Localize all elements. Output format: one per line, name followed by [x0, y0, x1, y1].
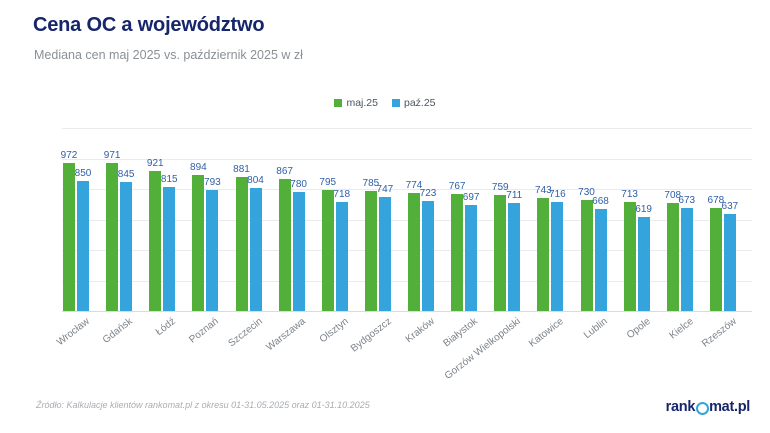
bar-group: 971845 — [106, 128, 149, 311]
bar-paź.25-Warszawa[interactable]: 780 — [293, 192, 305, 311]
x-axis-category-label: Katowice — [527, 316, 566, 350]
bar-group: 785747 — [365, 128, 408, 311]
bar-value-label: 619 — [635, 204, 652, 215]
bar-maj.25-Kielce[interactable]: 708 — [667, 203, 679, 311]
bar-maj.25-Białystok[interactable]: 767 — [451, 194, 463, 311]
bar-value-label: 921 — [147, 158, 164, 169]
bar-value-label: 637 — [722, 201, 739, 212]
bar-paź.25-Bydgoszcz[interactable]: 747 — [379, 197, 391, 311]
bar-paź.25-Białystok[interactable]: 697 — [465, 205, 477, 311]
legend-label: paź.25 — [404, 97, 436, 109]
bar-maj.25-Olsztyn[interactable]: 795 — [322, 190, 334, 311]
bar-maj.25-Poznań[interactable]: 894 — [192, 175, 204, 311]
legend-label: maj.25 — [346, 97, 378, 109]
bar-paź.25-Gdańsk[interactable]: 845 — [120, 182, 132, 311]
bar-value-label: 881 — [233, 164, 250, 175]
x-axis-category-label: Poznań — [188, 316, 222, 346]
x-axis-category-label: Olsztyn — [317, 316, 350, 345]
bar-value-label: 845 — [118, 169, 135, 180]
bar-group: 713619 — [624, 128, 667, 311]
bar-paź.25-Rzeszów[interactable]: 637 — [724, 214, 736, 311]
bar-maj.25-Szczecin[interactable]: 881 — [236, 177, 248, 311]
bar-group: 767697 — [451, 128, 494, 311]
logo-text-part2: mat.pl — [709, 399, 750, 415]
chart-subtitle: Mediana cen maj 2025 vs. październik 202… — [34, 48, 303, 62]
rankomat-logo: rank mat.pl — [666, 399, 750, 415]
bar-maj.25-Łódź[interactable]: 921 — [149, 171, 161, 311]
bar-maj.25-Wrocław[interactable]: 972 — [63, 163, 75, 311]
x-axis-category-label: Łódź — [154, 316, 178, 338]
bar-group: 678637 — [710, 128, 753, 311]
x-axis-category-label: Kielce — [667, 316, 695, 341]
bar-paź.25-Łódź[interactable]: 815 — [163, 187, 175, 311]
bar-value-label: 711 — [506, 190, 522, 201]
bar-value-label: 713 — [621, 189, 638, 200]
x-axis-category-label: Szczecin — [226, 316, 264, 349]
bar-group: 921815 — [149, 128, 192, 311]
bar-group: 708673 — [667, 128, 710, 311]
legend-item-paź.25[interactable]: paź.25 — [392, 97, 436, 109]
bar-paź.25-Gorzów Wielkopolski[interactable]: 711 — [508, 203, 520, 311]
bar-value-label: 780 — [290, 179, 307, 190]
x-axis-category-label: Bydgoszcz — [349, 316, 394, 354]
bar-maj.25-Katowice[interactable]: 743 — [537, 198, 549, 311]
bar-group: 881804 — [236, 128, 279, 311]
chart-legend: maj.25paź.25 — [0, 97, 770, 109]
bar-value-label: 767 — [449, 181, 466, 192]
bar-paź.25-Kielce[interactable]: 673 — [681, 208, 693, 311]
bar-value-label: 815 — [161, 174, 178, 185]
bar-value-label: 718 — [333, 189, 350, 200]
bar-value-label: 894 — [190, 162, 207, 173]
bar-paź.25-Kraków[interactable]: 723 — [422, 201, 434, 311]
bar-group: 867780 — [279, 128, 322, 311]
chart-page: Cena OC a województwo Mediana cen maj 20… — [0, 0, 770, 433]
bar-paź.25-Wrocław[interactable]: 850 — [77, 181, 89, 311]
logo-text-part1: rank — [666, 399, 695, 415]
x-axis-category-label: Wrocław — [55, 316, 92, 348]
bar-paź.25-Katowice[interactable]: 716 — [551, 202, 563, 311]
plot-area: 0200400600800100012009728509718459218158… — [62, 128, 752, 311]
bar-paź.25-Olsztyn[interactable]: 718 — [336, 202, 348, 311]
bar-value-label: 793 — [204, 177, 221, 188]
bar-paź.25-Opole[interactable]: 619 — [638, 217, 650, 311]
bar-group: 972850 — [63, 128, 106, 311]
x-axis-baseline — [62, 311, 752, 312]
bar-paź.25-Lublin[interactable]: 668 — [595, 209, 607, 311]
legend-swatch-icon — [392, 99, 400, 107]
source-note: Źródło: Kalkulacje klientów rankomat.pl … — [36, 400, 370, 410]
bar-paź.25-Poznań[interactable]: 793 — [206, 190, 218, 311]
bar-maj.25-Lublin[interactable]: 730 — [581, 200, 593, 311]
bar-value-label: 668 — [592, 196, 609, 207]
bar-value-label: 723 — [420, 188, 437, 199]
x-axis-category-label: Lublin — [581, 316, 609, 341]
x-axis-category-label: Gorzów Wielkopolski — [443, 316, 523, 382]
page-title: Cena OC a województwo — [33, 14, 264, 37]
bar-maj.25-Gdańsk[interactable]: 971 — [106, 163, 118, 311]
bar-maj.25-Opole[interactable]: 713 — [624, 202, 636, 311]
bar-value-label: 697 — [463, 192, 480, 203]
x-axis-category-label: Warszawa — [264, 316, 307, 353]
bar-value-label: 972 — [61, 150, 78, 161]
bar-value-label: 850 — [75, 168, 92, 179]
x-axis-category-label: Opole — [625, 316, 653, 341]
bar-maj.25-Gorzów Wielkopolski[interactable]: 759 — [494, 195, 506, 311]
bar-value-label: 716 — [549, 189, 566, 200]
logo-ring-icon — [696, 402, 709, 415]
bar-value-label: 971 — [104, 150, 121, 161]
bar-value-label: 804 — [247, 175, 264, 186]
bar-value-label: 673 — [678, 195, 695, 206]
x-axis-category-label: Białystok — [442, 316, 480, 349]
bar-maj.25-Warszawa[interactable]: 867 — [279, 179, 291, 311]
x-axis-category-label: Rzeszów — [700, 316, 739, 350]
bar-value-label: 747 — [377, 184, 394, 195]
bar-group: 759711 — [494, 128, 537, 311]
bar-maj.25-Rzeszów[interactable]: 678 — [710, 208, 722, 311]
bar-group: 743716 — [537, 128, 580, 311]
bar-value-label: 795 — [319, 177, 336, 188]
bar-paź.25-Szczecin[interactable]: 804 — [250, 188, 262, 311]
x-axis-category-label: Kraków — [404, 316, 437, 345]
bar-group: 795718 — [322, 128, 365, 311]
bar-maj.25-Kraków[interactable]: 774 — [408, 193, 420, 311]
bar-group: 730668 — [581, 128, 624, 311]
bar-group: 894793 — [192, 128, 235, 311]
legend-item-maj.25[interactable]: maj.25 — [334, 97, 378, 109]
bar-maj.25-Bydgoszcz[interactable]: 785 — [365, 191, 377, 311]
bar-group: 774723 — [408, 128, 451, 311]
bar-value-label: 867 — [276, 166, 293, 177]
x-axis-category-label: Gdańsk — [101, 316, 135, 346]
legend-swatch-icon — [334, 99, 342, 107]
